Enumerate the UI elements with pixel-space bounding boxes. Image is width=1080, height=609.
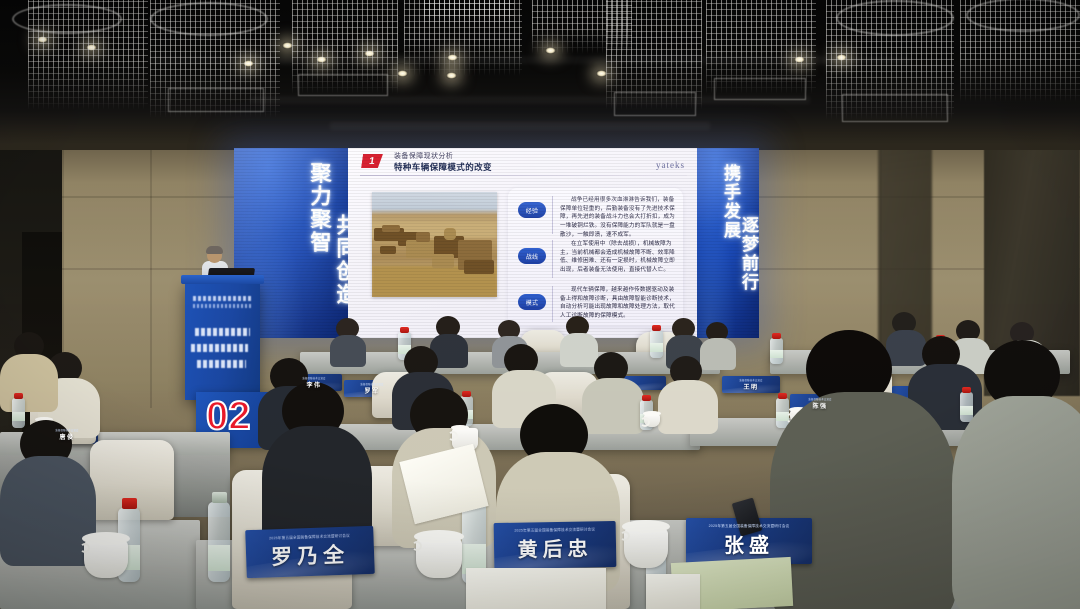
podium-org-line2 [191,344,248,352]
slide-header: 1 装备保障现状分析 特种车辆保障模式的改变 [348,148,697,178]
right-banner-line1: 携手发展 [722,164,739,240]
crystal-chandelier [424,0,514,28]
water-bottle [960,392,973,422]
slide-content: 1 装备保障现状分析 特种车辆保障模式的改变 yateks [348,148,697,338]
podium-org-line3 [197,360,246,368]
tea-cup [644,414,660,427]
military-convoy-photo [372,192,497,297]
block-badge-3: 模式 [518,294,546,310]
name-placard-front-left: 2025年第五届全国装备保障技术交流暨研讨会议 罗乃全 [245,526,375,578]
slide-eyebrow: 装备保障现状分析 [394,151,453,161]
screen-right-banner: 携手发展 逐梦前行 [697,148,759,338]
tea-cup [416,538,462,578]
water-bottle [12,398,25,428]
left-banner-line1: 聚力聚智 [309,162,330,254]
document [646,574,700,609]
led-presentation-screen: 聚力聚智 共同创造 携手发展 逐梦前行 1 装备保障现状分析 特种车辆保障模式的… [234,148,759,338]
water-bottle [208,502,230,582]
block-text-1: 战争已经用很多次血淋淋告诉我们，装备保障单位轻重的，后勤装备没有了先进技术保障，… [560,196,675,239]
right-banner-line2: 逐梦前行 [740,216,757,292]
name-placard: 装备保障技术交流会 王明 [722,376,780,393]
placard-name: 罗乃全 [271,538,350,571]
name-placard-front-center: 2025年第五届全国装备保障技术交流暨研讨会议 黄后忠 [494,521,617,569]
water-bottle [650,330,663,358]
podium-org-line1 [195,328,250,336]
slide-title: 特种车辆保障模式的改变 [394,161,492,173]
conference-hall-photo: 聚力聚智 共同创造 携手发展 逐梦前行 1 装备保障现状分析 特种车辆保障模式的… [0,0,1080,609]
yateks-logo: yateks [656,160,685,170]
tea-cup [624,528,668,568]
tea-cup [84,540,128,578]
speaker-podium [185,282,260,400]
slide-text-card: 经验 战争已经用很多次血淋淋告诉我们，装备保障单位轻重的，后勤装备没有了先进技术… [508,188,683,326]
block-badge-1: 经验 [518,202,546,218]
name-placard-front-right: 2025年第五届全国装备保障技术交流暨研讨会议 张盛 [686,518,812,564]
water-bottle [770,338,783,364]
count-digits: 02 [206,396,251,436]
section-number-badge: 1 [361,154,383,168]
block-badge-2: 战线 [518,248,546,264]
placard-name: 黄后忠 [517,532,592,562]
notepad [466,568,606,609]
placard-name: 张盛 [724,529,774,558]
block-text-2: 在立军使用中（除去战损），机械故障为主，当前机械都会造成机械故障不断、效率降低、… [560,240,675,275]
